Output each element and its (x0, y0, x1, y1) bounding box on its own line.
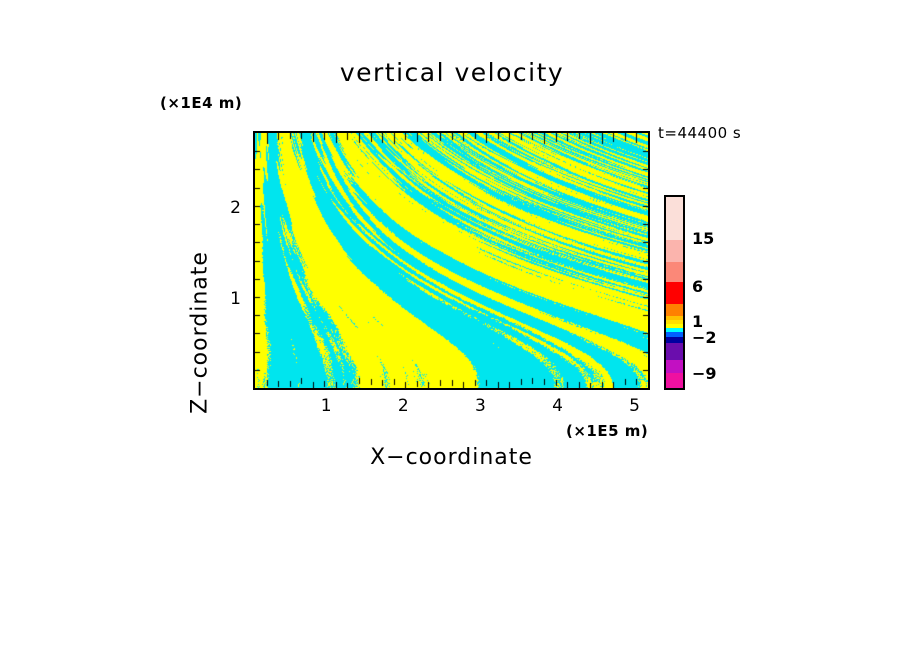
colorbar-tick-label: −2 (692, 328, 717, 347)
y-tick-label: 1 (211, 289, 241, 309)
colorbar-tick-label: 15 (692, 229, 714, 248)
x-axis-title: X−coordinate (253, 445, 650, 470)
colorbar[interactable] (664, 195, 685, 390)
colorbar-segment (666, 262, 683, 283)
y-axis-unit-label: (×1E4 m) (160, 94, 242, 112)
x-tick-label: 4 (542, 396, 572, 416)
timestamp-annotation: t=44400 s (658, 124, 741, 142)
figure-canvas: vertical velocity (×1E4 m) t=44400 s Z−c… (0, 0, 904, 654)
x-tick-label: 2 (388, 396, 418, 416)
colorbar-segment (666, 343, 683, 361)
y-axis-title: Z−coordinate (188, 223, 213, 443)
x-tick-label: 3 (465, 396, 495, 416)
colorbar-tick-label: −9 (692, 364, 717, 383)
colorbar-segment (666, 282, 683, 304)
colorbar-segment (666, 360, 683, 373)
x-tick-label: 5 (620, 396, 650, 416)
page-title: vertical velocity (0, 58, 904, 87)
colorbar-segment (666, 240, 683, 262)
x-axis-unit-label: (×1E5 m) (566, 422, 648, 440)
x-tick-label: 1 (311, 396, 341, 416)
colorbar-segment (666, 373, 683, 388)
y-axis-title-wrap: Z−coordinate (150, 155, 370, 375)
colorbar-segment (666, 304, 683, 317)
colorbar-tick-label: 6 (692, 277, 703, 296)
y-tick-label: 2 (211, 198, 241, 218)
colorbar-segment (666, 197, 683, 240)
